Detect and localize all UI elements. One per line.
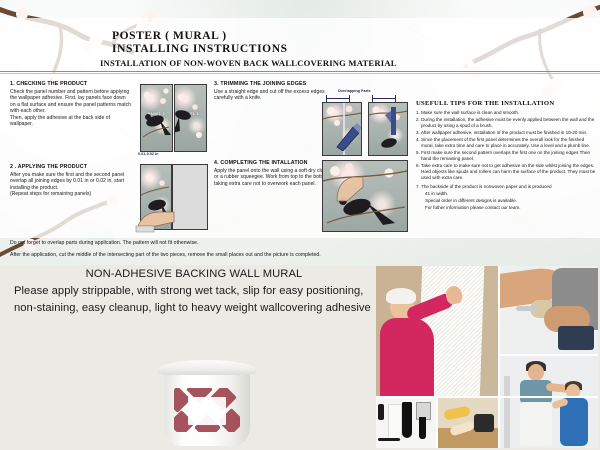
title-line-1: POSTER ( MURAL )	[112, 30, 288, 43]
step-1-body: Check the panel number and pattern befor…	[10, 89, 132, 127]
photo3-man-head	[528, 364, 544, 381]
photo5-roll-yellow	[443, 405, 471, 420]
dimension-tick	[372, 95, 373, 102]
photo-man-and-child	[500, 356, 598, 448]
panel-2-bird-art	[141, 85, 172, 151]
tip-item: 1. Make sure the wall surface is clean a…	[416, 110, 596, 116]
photo5-paste-pot	[474, 414, 494, 432]
step-2-heading: 2 . APPLYING THE PRODUCT	[10, 164, 132, 170]
step-3-heading: 3. TRIMMING THE JOINING EDGES	[214, 81, 330, 87]
diagram-trim-panel-a	[322, 102, 362, 156]
bucket-label	[174, 388, 240, 432]
tip-item: 2. During the installation, the adhesive…	[416, 117, 596, 129]
step-2: 2 . APPLYING THE PRODUCT After you make …	[10, 164, 132, 198]
note-overlap: Do not forget to overlap parts during ap…	[10, 240, 199, 246]
dimension-line-left	[326, 98, 350, 99]
measurement-label: 0.01-0.02 in	[138, 152, 159, 156]
photo2-roller-handle	[516, 306, 538, 311]
straight-edge-icon	[383, 107, 405, 135]
photo1-cap	[386, 288, 416, 304]
page-title: POSTER ( MURAL ) INSTALLING INSTRUCTIONS	[112, 30, 288, 56]
dimension-tick	[395, 95, 396, 102]
squeegee-hand-icon	[331, 167, 365, 207]
collage-divider-vertical-2	[436, 398, 438, 448]
diagram-completing-installation	[322, 160, 408, 232]
adhesive-bucket	[152, 360, 262, 448]
tip-item: 3. After wallpaper adhesive, installatio…	[416, 130, 596, 136]
diagram-panel-3: PANEL 3	[174, 84, 207, 152]
title-line-2: INSTALLING INSTRUCTIONS	[112, 43, 288, 56]
step-3-body: Use a straight edge and cut off the exce…	[214, 89, 330, 102]
step-4-body: Apply the panel onto the wall using a so…	[214, 168, 330, 187]
photo4-putty-knife-grip	[419, 417, 426, 439]
diagram-trim-panel-b	[368, 102, 408, 156]
step-2-body: After you make sure the first and the se…	[10, 172, 132, 198]
dimension-tick	[326, 95, 327, 102]
note-cut: After the application, cut the middle of…	[10, 252, 321, 258]
bucket-label-card	[188, 397, 226, 425]
tips-heading: USEFULL TIPS FOR THE INSTALLATION	[416, 100, 596, 107]
step-1: 1. CHECKING THE PRODUCT Check the panel …	[10, 81, 132, 127]
photo4-sponge	[388, 404, 402, 440]
product-heading: NON-ADHESIVE BACKING WALL MURAL	[14, 268, 374, 280]
collage-divider-horizontal-2	[500, 354, 598, 356]
tip-subitem: For futher information please contact ou…	[416, 205, 596, 211]
title-divider	[0, 71, 600, 72]
overlapping-parts-label: Overlapping Parts	[338, 89, 371, 93]
collage-divider-horizontal	[376, 396, 598, 398]
dimension-tick	[349, 95, 350, 102]
panel-3-bird-art	[175, 85, 206, 151]
instruction-sheet: POSTER ( MURAL ) INSTALLING INSTRUCTIONS…	[0, 18, 600, 238]
photo1-torso	[380, 318, 434, 396]
photo-collage	[376, 266, 598, 448]
photo3-man-pants	[520, 402, 552, 446]
step-4-heading: 4. COMPLETING THE INTALLATION	[214, 160, 330, 166]
tip-item: 4. Since the placement of the first pane…	[416, 137, 596, 149]
step-1-heading: 1. CHECKING THE PRODUCT	[10, 81, 132, 87]
step-4: 4. COMPLETING THE INTALLATION Apply the …	[214, 160, 330, 187]
tip-subitem: 41 in width.	[416, 191, 596, 197]
tips-section: USEFULL TIPS FOR THE INSTALLATION 1. Mak…	[416, 100, 596, 212]
photo-wallpaper-rolls	[438, 398, 498, 448]
photo-tools	[376, 398, 436, 448]
product-description: NON-ADHESIVE BACKING WALL MURAL Please a…	[14, 268, 374, 316]
photo3-ladder	[504, 376, 510, 448]
photo4-handle-tool	[378, 404, 384, 420]
tip-item: 7. The backside of the product is nonwov…	[416, 184, 596, 190]
bucket-lid	[158, 360, 256, 375]
tips-list: 1. Make sure the wall surface is clean a…	[416, 110, 596, 211]
knife-icon	[335, 121, 361, 151]
tip-subitem: Special order in different designs is av…	[416, 198, 596, 204]
tip-item: 5. First make sure the second pattern ov…	[416, 150, 596, 162]
photo4-flat-tool	[378, 438, 400, 441]
step-3: 3. TRIMMING THE JOINING EDGES Use a stra…	[214, 81, 330, 102]
diagram-panel-2: PANEL 2	[140, 84, 173, 152]
photo-hands-with-roller	[500, 266, 598, 354]
poster-page: POSTER ( MURAL ) INSTALLING INSTRUCTIONS…	[0, 0, 600, 450]
applying-hand-icon	[134, 200, 180, 234]
page-subtitle: INSTALLATION OF NON-WOVEN BACK WALLCOVER…	[100, 58, 397, 68]
product-body: Please apply strippable, with strong wet…	[14, 283, 374, 316]
dimension-line-right	[372, 98, 396, 99]
photo4-scraper	[402, 402, 412, 438]
tip-item: 6. Take extra care to make sure not to g…	[416, 163, 596, 181]
photo-woman-hanging-wallpaper	[376, 266, 498, 396]
collage-divider-vertical	[498, 266, 500, 448]
title-divider-secondary	[0, 73, 600, 74]
photo2-tool	[558, 326, 594, 350]
